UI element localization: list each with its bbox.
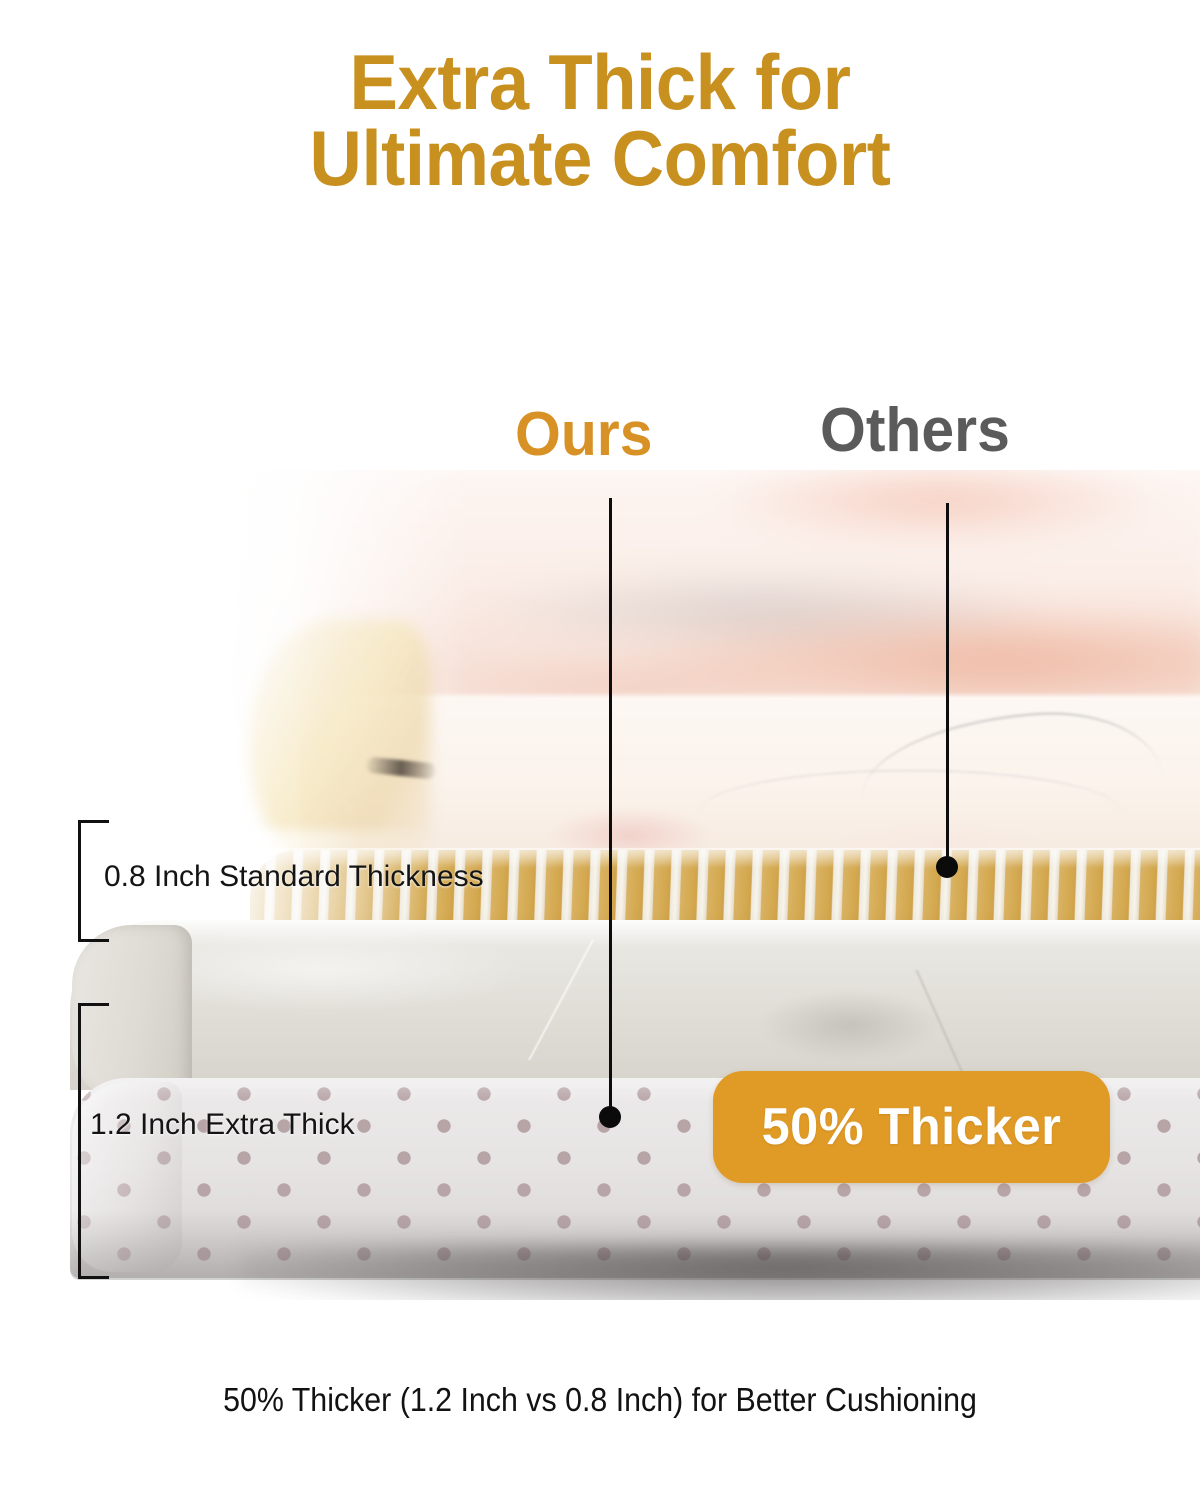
quilt-dimple (760, 990, 940, 1060)
headline-line-2: Ultimate Comfort (42, 120, 1158, 196)
infographic-page: Extra Thick for Ultimate Comfort Ours Ot… (0, 0, 1200, 1500)
mat-drop-shadow (240, 1245, 1200, 1300)
label-others: Others (820, 400, 1010, 462)
bracket-extra-thick (78, 1003, 109, 1279)
label-ours: Ours (515, 404, 652, 466)
measurement-standard-thickness: 0.8 Inch Standard Thickness (104, 862, 484, 892)
footer-caption: 50% Thicker (1.2 Inch vs 0.8 Inch) for B… (48, 1383, 1152, 1416)
thicker-badge-label: 50% Thicker (762, 1097, 1062, 1157)
leader-line-ours (609, 498, 612, 1112)
headline-line-1: Extra Thick for (350, 38, 851, 126)
measurement-extra-thick: 1.2 Inch Extra Thick (90, 1110, 355, 1140)
page-title: Extra Thick for Ultimate Comfort (42, 44, 1158, 197)
leader-dot-ours (599, 1106, 621, 1128)
leader-dot-others (936, 856, 958, 878)
leader-line-others (946, 503, 949, 863)
quilt-seam-left (168, 940, 594, 1060)
thicker-badge: 50% Thicker (713, 1071, 1110, 1183)
